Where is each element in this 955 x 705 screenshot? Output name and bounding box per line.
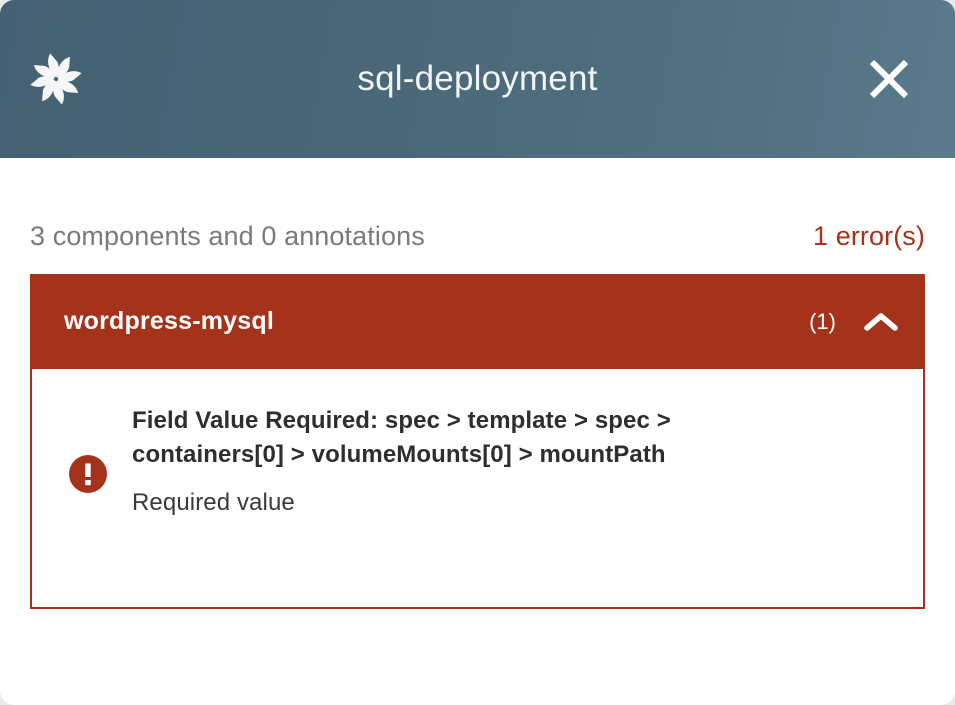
issue-text: Field Value Required: spec > template > … <box>114 402 732 520</box>
accordion-panel: Field Value Required: spec > template > … <box>30 369 925 609</box>
dialog-header: sql-deployment <box>0 0 955 158</box>
dialog-body: 3 components and 0 annotations 1 error(s… <box>0 158 955 609</box>
issue-title: Field Value Required: spec > template > … <box>132 404 732 472</box>
component-accordion: wordpress-mysql (1) <box>30 274 925 609</box>
issue-item: Field Value Required: spec > template > … <box>62 402 893 520</box>
chevron-up-icon[interactable] <box>864 305 898 339</box>
close-dialog-button[interactable] <box>861 51 917 107</box>
accordion-issue-count: (1) <box>809 309 836 335</box>
dialog-title: sql-deployment <box>0 50 955 108</box>
issue-detail: Required value <box>132 486 732 520</box>
close-icon <box>866 56 912 102</box>
sql-deployment-dialog: sql-deployment 3 components and 0 annota… <box>0 0 955 705</box>
accordion-title: wordpress-mysql <box>64 307 809 336</box>
components-summary: 3 components and 0 annotations <box>30 221 425 252</box>
issue-icon-wrap <box>62 402 114 494</box>
error-count-label: 1 error(s) <box>813 221 925 252</box>
summary-row: 3 components and 0 annotations 1 error(s… <box>30 158 925 252</box>
accordion-header-wordpress-mysql[interactable]: wordpress-mysql (1) <box>30 274 925 369</box>
error-exclamation-icon <box>68 454 108 494</box>
